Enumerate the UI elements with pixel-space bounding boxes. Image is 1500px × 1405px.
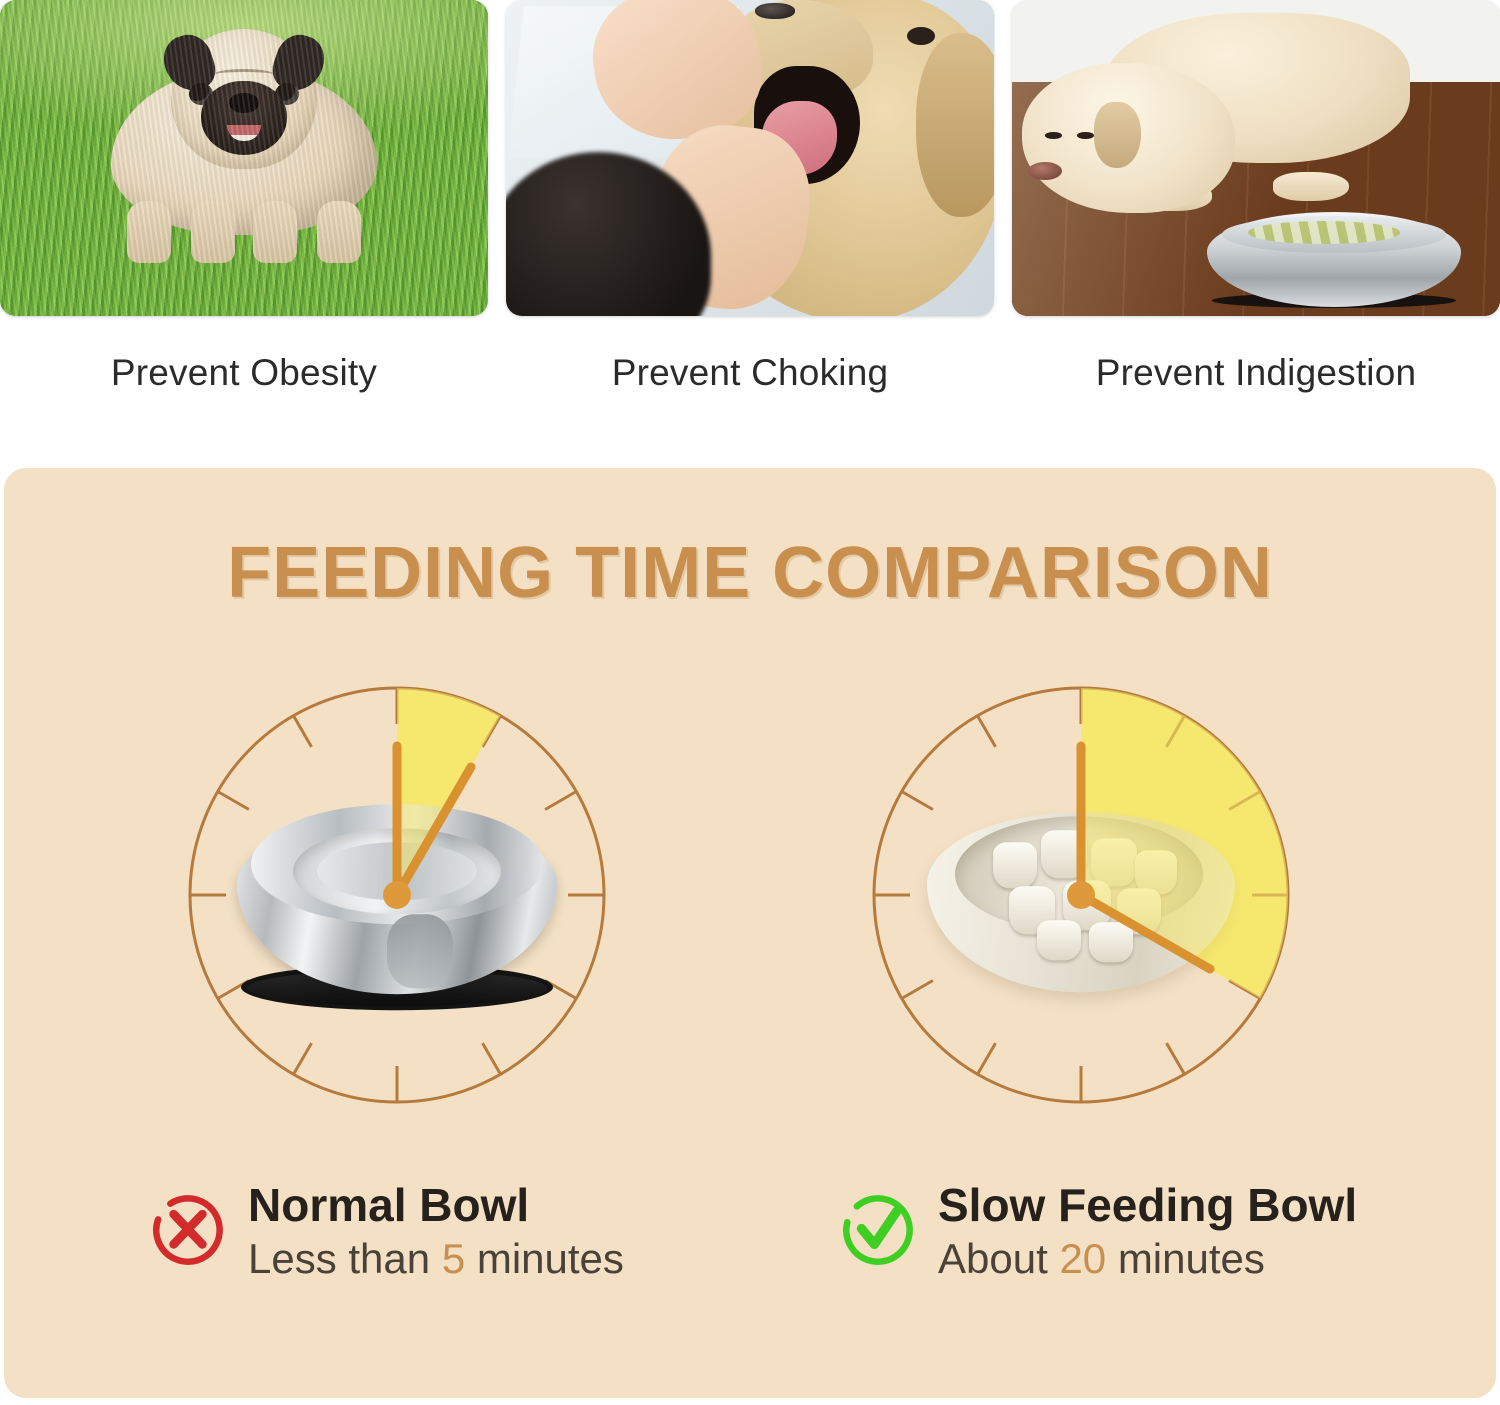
result-sub-prefix: About: [938, 1235, 1059, 1282]
benefit-photo-prevent-obesity: [0, 0, 488, 316]
benefit-photo-prevent-indigestion: [1012, 0, 1500, 316]
benefits-photo-strip: [0, 0, 1500, 320]
comparison-results-row: Normal Bowl Less than 5 minutes Slow Fee…: [4, 1180, 1496, 1300]
clock-dial-slow-feeding-bowl: [866, 680, 1296, 1110]
result-sub-suffix: minutes: [1106, 1235, 1265, 1282]
result-subtitle-slow-feeding-bowl: About 20 minutes: [938, 1234, 1357, 1284]
clock-hands-left: [182, 680, 612, 1110]
result-sub-number: 5: [442, 1235, 465, 1282]
red-x-circle-icon: [152, 1194, 224, 1266]
infographic-page: Prevent Obesity Prevent Choking Prevent …: [0, 0, 1500, 1405]
result-title-normal-bowl: Normal Bowl: [248, 1180, 624, 1232]
caption-prevent-choking: Prevent Choking: [506, 352, 994, 408]
result-normal-bowl: Normal Bowl Less than 5 minutes: [152, 1180, 624, 1284]
feeding-time-comparison-panel: FEEDING TIME COMPARISON: [4, 468, 1496, 1398]
pug-photo: [0, 0, 488, 316]
clock-dial-normal-bowl: [182, 680, 612, 1110]
clock-center-pin: [383, 881, 411, 909]
indigestion-photo: [1012, 0, 1500, 316]
clock-center-pin: [1067, 881, 1095, 909]
choking-photo: [506, 0, 994, 316]
result-sub-suffix: minutes: [465, 1235, 624, 1282]
panel-title: FEEDING TIME COMPARISON: [4, 532, 1496, 614]
benefit-photo-prevent-choking: [506, 0, 994, 316]
result-title-slow-feeding-bowl: Slow Feeding Bowl: [938, 1180, 1357, 1232]
result-subtitle-normal-bowl: Less than 5 minutes: [248, 1234, 624, 1284]
pug-illustration: [99, 25, 389, 265]
clock-hands-right: [866, 680, 1296, 1110]
result-slow-feeding-bowl: Slow Feeding Bowl About 20 minutes: [842, 1180, 1357, 1284]
labrador-illustration: [1022, 13, 1403, 241]
result-sub-prefix: Less than: [248, 1235, 442, 1282]
caption-prevent-obesity: Prevent Obesity: [0, 352, 488, 408]
caption-prevent-indigestion: Prevent Indigestion: [1012, 352, 1500, 408]
result-sub-number: 20: [1059, 1235, 1106, 1282]
green-check-circle-icon: [842, 1194, 914, 1266]
clock-dials-row: [4, 680, 1496, 1130]
benefits-caption-row: Prevent Obesity Prevent Choking Prevent …: [0, 352, 1500, 408]
floor-food-bowl: [1207, 212, 1461, 307]
